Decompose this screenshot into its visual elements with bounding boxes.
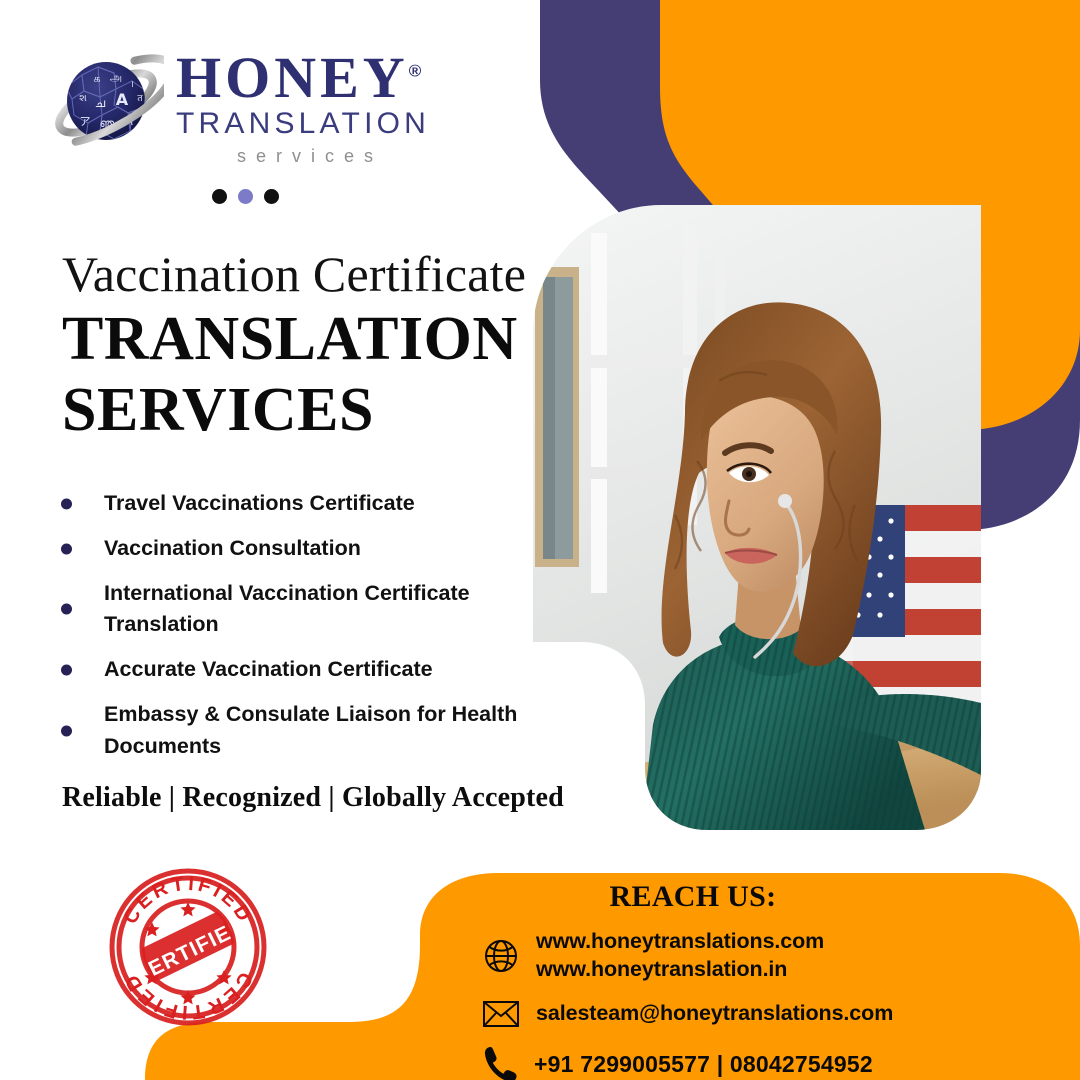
list-item: International Vaccination Certificate Tr… bbox=[56, 578, 546, 642]
accent-dot-1 bbox=[212, 189, 227, 204]
list-item-label: International Vaccination Certificate Tr… bbox=[104, 581, 470, 637]
logo-accent-dots bbox=[212, 189, 279, 204]
logo-wordmark: HONEY® TRANSLATION services bbox=[176, 44, 430, 167]
email-text[interactable]: salesteam@honeytranslations.com bbox=[536, 1000, 893, 1028]
svg-text:அ: அ bbox=[110, 71, 122, 84]
logo-services-text: services bbox=[176, 146, 430, 167]
hero-photo bbox=[533, 205, 981, 830]
contact-row-email[interactable]: salesteam@honeytranslations.com bbox=[478, 994, 1038, 1034]
accent-dot-2 bbox=[238, 189, 253, 204]
svg-text:ア: ア bbox=[80, 115, 91, 128]
website-secondary[interactable]: www.honeytranslation.in bbox=[536, 956, 824, 984]
website-text-group: www.honeytranslations.com www.honeytrans… bbox=[536, 928, 824, 983]
logo-honey-text: HONEY® bbox=[176, 50, 430, 105]
headline-bold-line-1: TRANSLATION bbox=[62, 307, 532, 373]
svg-text:શ: શ bbox=[79, 93, 87, 104]
bullet-dot-icon bbox=[61, 543, 72, 554]
accent-dot-3 bbox=[264, 189, 279, 204]
logo-row: க அ । त શ ച A ア ഞ અ HONEY® TRANSLATION s… bbox=[52, 44, 430, 167]
svg-text:ച: ച bbox=[95, 96, 106, 110]
list-item: Embassy & Consulate Liaison for Health D… bbox=[56, 699, 546, 763]
globe-icon bbox=[478, 936, 524, 976]
globe-languages-icon: க அ । त શ ച A ア ഞ અ bbox=[52, 49, 164, 161]
bullet-dot-icon bbox=[61, 665, 72, 676]
list-item-label: Accurate Vaccination Certificate bbox=[104, 657, 433, 681]
list-item: Vaccination Consultation bbox=[56, 533, 546, 565]
bullet-dot-icon bbox=[61, 498, 72, 509]
list-item-label: Vaccination Consultation bbox=[104, 536, 361, 560]
list-item-label: Travel Vaccinations Certificate bbox=[104, 491, 415, 515]
contact-row-phone[interactable]: +91 7299005577 | 08042754952 bbox=[478, 1045, 1038, 1080]
tagline-text: Reliable | Recognized | Globally Accepte… bbox=[62, 782, 564, 814]
svg-text:त: त bbox=[137, 94, 143, 104]
svg-text:।: । bbox=[130, 80, 133, 90]
bullet-dot-icon bbox=[61, 604, 72, 615]
list-item: Accurate Vaccination Certificate bbox=[56, 654, 546, 686]
reach-us-heading: REACH US: bbox=[478, 880, 908, 914]
contact-section: REACH US: www.honeytranslations.com www.… bbox=[478, 880, 1038, 1080]
hero-photo-image bbox=[533, 205, 981, 830]
logo-translation-text: TRANSLATION bbox=[176, 107, 430, 142]
svg-text:A: A bbox=[116, 90, 129, 109]
phone-icon bbox=[478, 1045, 524, 1080]
website-primary[interactable]: www.honeytranslations.com bbox=[536, 928, 824, 956]
headline-script-line: Vaccination Certificate bbox=[62, 248, 532, 301]
registered-trademark-icon: ® bbox=[409, 62, 422, 81]
list-item-label: Embassy & Consulate Liaison for Health D… bbox=[104, 702, 517, 758]
logo-honey-label: HONEY bbox=[176, 45, 409, 110]
envelope-icon bbox=[478, 994, 524, 1034]
page-title: Vaccination Certificate TRANSLATION SERV… bbox=[62, 248, 532, 444]
contact-row-website[interactable]: www.honeytranslations.com www.honeytrans… bbox=[478, 928, 1038, 983]
brand-logo: க அ । त શ ച A ア ഞ અ HONEY® TRANSLATION s… bbox=[52, 44, 430, 204]
poster-canvas: க அ । त શ ച A ア ഞ અ HONEY® TRANSLATION s… bbox=[0, 0, 1080, 1080]
list-item: Travel Vaccinations Certificate bbox=[56, 488, 546, 520]
bullet-dot-icon bbox=[61, 725, 72, 736]
phone-text[interactable]: +91 7299005577 | 08042754952 bbox=[534, 1050, 873, 1079]
certified-stamp-icon: CERTIFIED CERTIFIED CERTIFIED bbox=[106, 866, 270, 1028]
services-list: Travel Vaccinations Certificate Vaccinat… bbox=[56, 488, 546, 776]
svg-text:க: க bbox=[93, 72, 100, 85]
headline-bold-line-2: SERVICES bbox=[62, 378, 532, 444]
